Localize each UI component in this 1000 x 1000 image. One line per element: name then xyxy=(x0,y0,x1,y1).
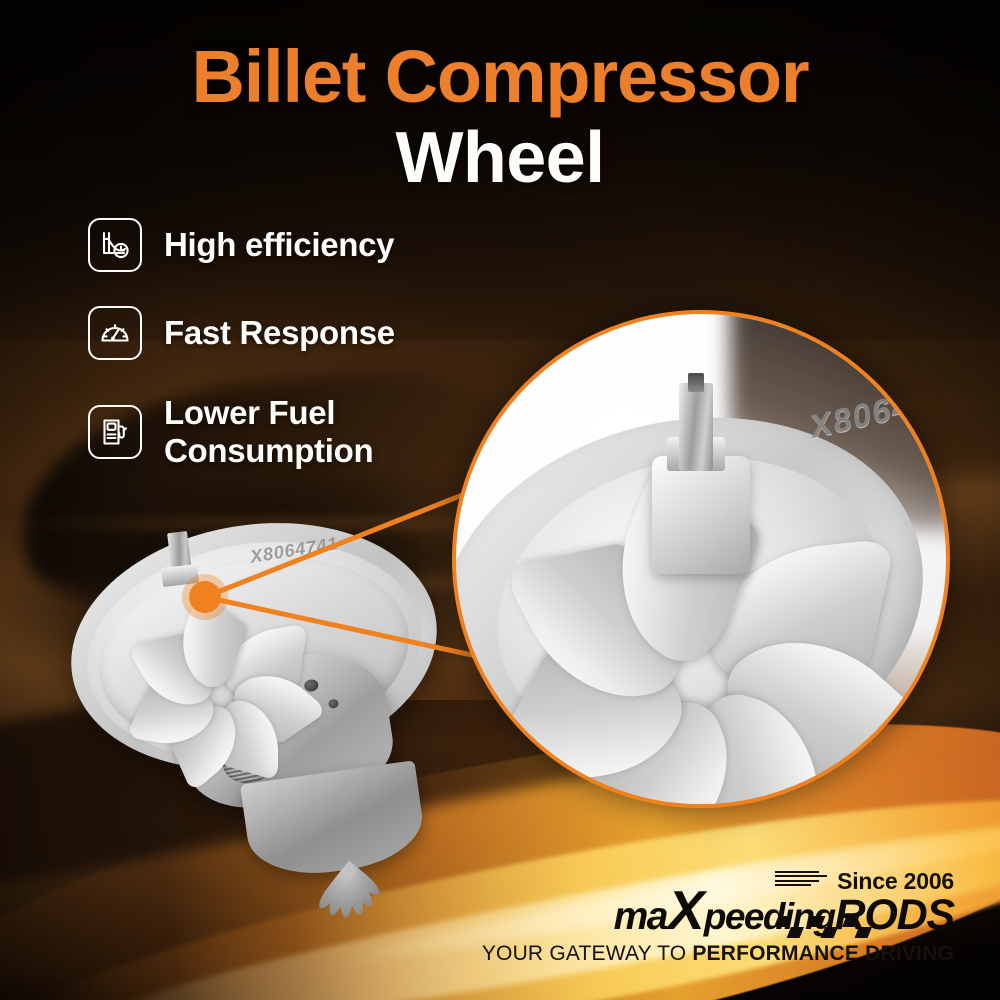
turbo-cartridge-product-image: X8064741 xyxy=(62,498,462,878)
feature-label-line-1: Lower Fuel xyxy=(164,394,373,432)
title-line-2: Wheel xyxy=(0,122,1000,194)
page-title: Billet Compressor Wheel xyxy=(0,40,1000,194)
logo-x: X xyxy=(668,889,703,931)
logo-ma: ma xyxy=(614,896,667,938)
feature-label: Fast Response xyxy=(164,314,395,352)
feature-label: Lower Fuel Consumption xyxy=(164,394,373,470)
housing-port xyxy=(328,698,339,708)
feature-item-lower-fuel-consumption: Lower Fuel Consumption xyxy=(88,394,395,470)
feature-item-high-efficiency: High efficiency xyxy=(88,218,395,272)
fuel-pump-icon xyxy=(88,405,142,459)
shaft-tip xyxy=(688,373,704,393)
speedometer-gauge-icon xyxy=(88,306,142,360)
wheel-hub xyxy=(652,456,750,574)
efficiency-chart-clock-icon xyxy=(88,218,142,272)
brand-logo: Since 2006 maXpeedingRODS YOUR GATEWAY T… xyxy=(482,870,954,966)
magnified-wheel-image: X8064 xyxy=(456,314,946,804)
product-banner: Billet Compressor Wheel High efficiency xyxy=(0,0,1000,1000)
since-label: Since 2006 xyxy=(837,870,954,893)
tagline-bold: PERFORMANCE DRIVING xyxy=(692,942,954,965)
logo-rods: RODS xyxy=(835,894,954,936)
feature-label-line-2: Consumption xyxy=(164,432,373,470)
logo-peeding: peeding xyxy=(704,896,835,938)
zoom-callout-circle: X8064 xyxy=(452,310,950,808)
feature-list: High efficiency Fast Response xyxy=(88,218,395,504)
compressor-wheel-small xyxy=(130,559,314,719)
callout-marker-dot xyxy=(189,581,221,613)
title-line-1: Billet Compressor xyxy=(0,40,1000,114)
feature-label: High efficiency xyxy=(164,226,394,264)
speed-lines-icon xyxy=(775,871,827,887)
logo-tagline: YOUR GATEWAY TO PERFORMANCE DRIVING xyxy=(482,942,954,966)
wheel-shaft xyxy=(679,383,713,471)
logo-wordmark: maXpeedingRODS xyxy=(482,889,954,938)
tagline-plain: YOUR GATEWAY TO xyxy=(482,942,693,965)
feature-item-fast-response: Fast Response xyxy=(88,306,395,360)
